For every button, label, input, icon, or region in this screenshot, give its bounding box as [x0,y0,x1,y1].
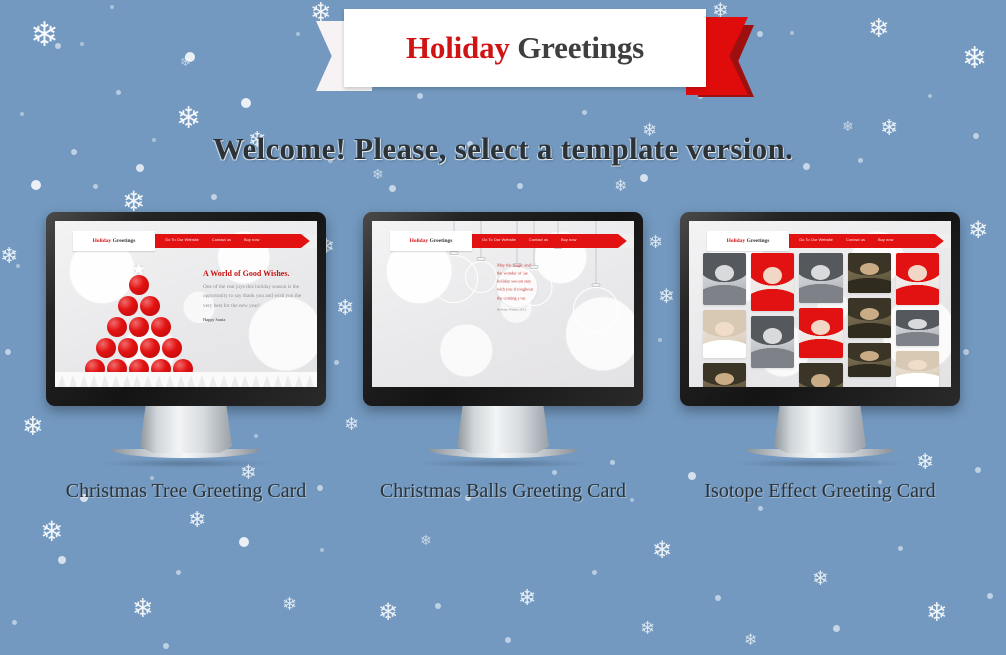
mini-logo-holiday: Holiday [410,238,429,244]
stand-neck [457,406,549,453]
tree-silhouette-icon [166,375,174,387]
monitor-stand [680,406,960,468]
photo-thumbnail[interactable] [896,310,939,346]
photo-thumbnail[interactable] [703,310,746,358]
tree-ornament-ball [140,338,160,358]
snowflake-icon: ❄ [188,510,206,532]
photo-shoulders [848,278,891,293]
tree-silhouette-icon [58,375,66,387]
tree-silhouette-icon [231,375,239,387]
mini-site-logo: Holiday Greetings [390,231,472,251]
mini-logo-holiday: Holiday [93,238,112,244]
mini-nav-link[interactable]: Go To Our Website [482,237,516,242]
mini-nav-link[interactable]: Go To Our Website [799,237,833,242]
photo-thumbnail[interactable] [848,298,891,338]
photo-shoulders [799,339,842,358]
monitor-frame: May the magic and the wonder of the holi… [363,212,643,406]
monitor-frame: Holiday Greetings Go To Our Website Cont… [680,212,960,406]
ornament-circle [515,269,552,306]
mini-nav-links: Go To Our Website Contact us Buy now [482,237,576,242]
photo-face [860,308,879,320]
photo-thumbnail[interactable] [896,351,939,387]
greeting-text-block: A World of Good Wishes. One of the real … [203,269,311,322]
snowflake-icon: ❄ [40,518,63,546]
snow-dot [20,112,24,116]
snow-dot [31,180,41,190]
snow-dot [898,546,903,551]
ornament-signature: Holiday Wishes 2013 [497,306,537,312]
photo-shoulders [799,284,842,303]
banner-title-holiday: Holiday [406,30,510,65]
snow-dot [833,625,840,632]
tree-ball-row [83,275,195,295]
tree-ornament-ball [151,317,171,337]
tree-silhouette-icon [90,375,98,387]
tree-silhouette-icon [177,375,185,387]
tree-silhouette-icon [306,375,314,387]
welcome-heading: Welcome! Please, select a template versi… [0,131,1006,167]
tree-silhouette-icon [101,375,109,387]
template-option-christmas-balls[interactable]: May the magic and the wonder of the holi… [363,212,643,504]
snow-dot [211,194,217,200]
tree-silhouette-icon [252,375,260,387]
photo-face [811,374,830,387]
tree-silhouette-icon [295,375,303,387]
mini-logo-holiday: Holiday [727,238,746,244]
snow-dot [116,90,121,95]
monitor-stand [46,406,326,468]
tree-ball-row [83,296,195,316]
snowflake-icon: ❄ [132,596,154,622]
tree-silhouette-icon [112,375,120,387]
mini-nav-link[interactable]: Buy now [878,237,893,242]
photo-face [860,263,879,275]
snow-dot [185,52,195,62]
photo-shoulders [896,373,939,387]
snowflake-icon: ❄ [868,16,890,42]
snow-dot [417,93,423,99]
tree-ornament-ball [129,275,149,295]
mini-nav-notch [618,234,634,248]
christmas-tree-balls [83,275,195,380]
tree-silhouette-icon [144,375,152,387]
snow-dot [58,556,66,564]
mini-site-nav: Holiday Greetings Go To Our Website Cont… [390,234,634,248]
snowflake-icon: ❄ [518,588,536,610]
photo-thumbnail[interactable] [703,253,746,305]
snow-dot [592,570,597,575]
tree-silhouette-icon [263,375,271,387]
snow-dot [110,5,114,9]
mini-logo-greetings: Greetings [747,238,770,244]
tree-ornament-ball [118,338,138,358]
photo-thumbnail[interactable] [848,253,891,293]
snowflake-icon: ❄ [744,632,757,648]
snow-dot [80,42,84,46]
photo-shoulders [896,332,939,346]
mini-nav-link[interactable]: Go To Our Website [165,237,199,242]
mini-site-nav: Holiday Greetings Go To Our Website Cont… [73,234,317,248]
snow-dot [163,643,169,649]
snow-dot [296,32,300,36]
snowflake-icon: ❄ [640,620,655,638]
snow-dot [55,43,61,49]
snow-dot [93,184,98,189]
photo-thumbnail[interactable] [703,363,746,387]
snow-dot [389,185,396,192]
preview-screen-isotope-effect[interactable]: Holiday Greetings Go To Our Website Cont… [689,221,951,387]
photo-thumbnail[interactable] [799,308,842,358]
preview-screen-christmas-balls[interactable]: May the magic and the wonder of the holi… [372,221,634,387]
mini-site-nav: Holiday Greetings Go To Our Website Cont… [707,234,951,248]
photo-grid [703,253,939,387]
mini-site-logo: Holiday Greetings [73,231,155,251]
stand-shadow [418,459,588,468]
mini-nav-link[interactable]: Buy now [244,237,259,242]
photo-thumbnail[interactable] [896,253,939,305]
mini-nav-notch [301,234,317,248]
banner-title: Holiday Greetings [406,30,644,66]
snow-dot [582,110,587,115]
ornament-circle [573,287,619,333]
snow-dot [640,174,648,182]
snow-dot [12,620,17,625]
tree-silhouette-icon [80,375,88,387]
mini-nav-link[interactable]: Contact us [212,237,231,242]
snow-dot [517,183,523,189]
photo-face [715,373,734,385]
tree-ornament-ball [129,317,149,337]
tree-silhouette-icon [155,375,163,387]
tree-silhouette-icon [284,375,292,387]
photo-shoulders [703,285,746,305]
stand-shadow [101,459,271,468]
snow-dot [757,31,763,37]
tree-silhouette-icon [209,375,217,387]
monitor-frame: Holiday Greetings Go To Our Website Cont… [46,212,326,406]
ornament-circle [465,261,497,293]
snowflake-icon: ❄ [420,534,432,548]
snowflake-icon: ❄ [652,538,672,562]
photo-shoulders [848,364,891,377]
photo-thumbnail[interactable] [848,343,891,377]
photo-thumbnail[interactable] [751,253,794,311]
tree-ball-row [83,317,195,337]
photo-shoulders [896,285,939,305]
mini-logo-greetings: Greetings [113,238,136,244]
tree-silhouette-icon [123,375,131,387]
snowflake-icon: ❄ [614,178,627,194]
photo-shoulders [751,348,794,368]
photo-face [715,322,734,336]
photo-shoulders [751,289,794,311]
greeting-signature: Happy Santa [203,317,311,322]
tree-silhouette-icon [187,375,195,387]
snow-dot [758,506,763,511]
snowflake-icon: ❄ [378,600,398,624]
banner-title-greetings: Greetings [517,30,644,65]
stand-shadow [735,459,905,468]
snowflake-icon: ❄ [372,168,384,182]
template-caption[interactable]: Christmas Balls Greeting Card [363,480,643,504]
mini-site-logo: Holiday Greetings [707,231,789,251]
photo-thumbnail[interactable] [799,253,842,303]
snow-dot [435,603,441,609]
photo-shoulders [848,323,891,338]
snowflake-icon: ❄ [926,600,948,626]
snowflake-icon: ❄ [962,44,987,74]
mini-nav-links: Go To Our Website Contact us Buy now [165,237,259,242]
tree-silhouette-icon [133,375,141,387]
snow-dot [715,595,721,601]
mini-nav-link[interactable]: Contact us [529,237,548,242]
tree-ornament-ball [140,296,160,316]
mini-logo-greetings: Greetings [430,238,453,244]
mini-nav-link[interactable]: Buy now [561,237,576,242]
tree-silhouette-icon [220,375,228,387]
photo-thumbnail[interactable] [799,363,842,387]
tree-ornament-ball [162,338,182,358]
stand-neck [774,406,866,453]
greeting-body: One of the real joys this holiday season… [203,283,311,311]
snowflake-icon: ❄ [176,104,201,134]
snow-dot [239,537,249,547]
tree-ornament-ball [107,317,127,337]
snow-dot [176,570,181,575]
snow-dot [987,593,993,599]
tree-silhouette-icon [274,375,282,387]
snowflake-icon: ❄ [812,568,829,588]
site-banner: Holiday Greetings [316,9,754,91]
monitor-stand [363,406,643,468]
mini-nav-notch [935,234,951,248]
snowflake-icon: ❄ [180,56,191,69]
mini-nav-link[interactable]: Contact us [846,237,865,242]
template-option-isotope-effect[interactable]: Holiday Greetings Go To Our Website Cont… [680,212,960,504]
tree-silhouette-icon [198,375,206,387]
photo-shoulders [703,340,746,358]
template-caption[interactable]: Christmas Tree Greeting Card [46,480,326,504]
snow-dot [320,548,324,552]
banner-plate: Holiday Greetings [344,9,706,87]
photo-face [908,265,927,281]
tree-ornament-ball [96,338,116,358]
mini-nav-links: Go To Our Website Contact us Buy now [799,237,893,242]
greeting-heading: A World of Good Wishes. [203,269,311,278]
snowflake-icon: ❄ [282,596,297,614]
tree-silhouette-icon [69,375,77,387]
ornament-string [596,221,597,283]
snowflake-icon: ❄ [30,18,59,52]
snow-dot [790,31,794,35]
template-caption[interactable]: Isotope Effect Greeting Card [680,480,960,504]
template-option-christmas-tree[interactable]: Holiday Greetings Go To Our Website Cont… [46,212,326,504]
tree-ornament-ball [118,296,138,316]
stand-neck [140,406,232,453]
tree-silhouette-icon [241,375,249,387]
template-chooser-row: Holiday Greetings Go To Our Website Cont… [0,212,1006,504]
snow-dot [928,94,932,98]
tree-ball-row [83,338,195,358]
tree-silhouette-strip [55,372,317,387]
preview-screen-christmas-tree[interactable]: Holiday Greetings Go To Our Website Cont… [55,221,317,387]
photo-thumbnail[interactable] [751,316,794,368]
snow-dot [505,637,511,643]
snow-dot [241,98,251,108]
